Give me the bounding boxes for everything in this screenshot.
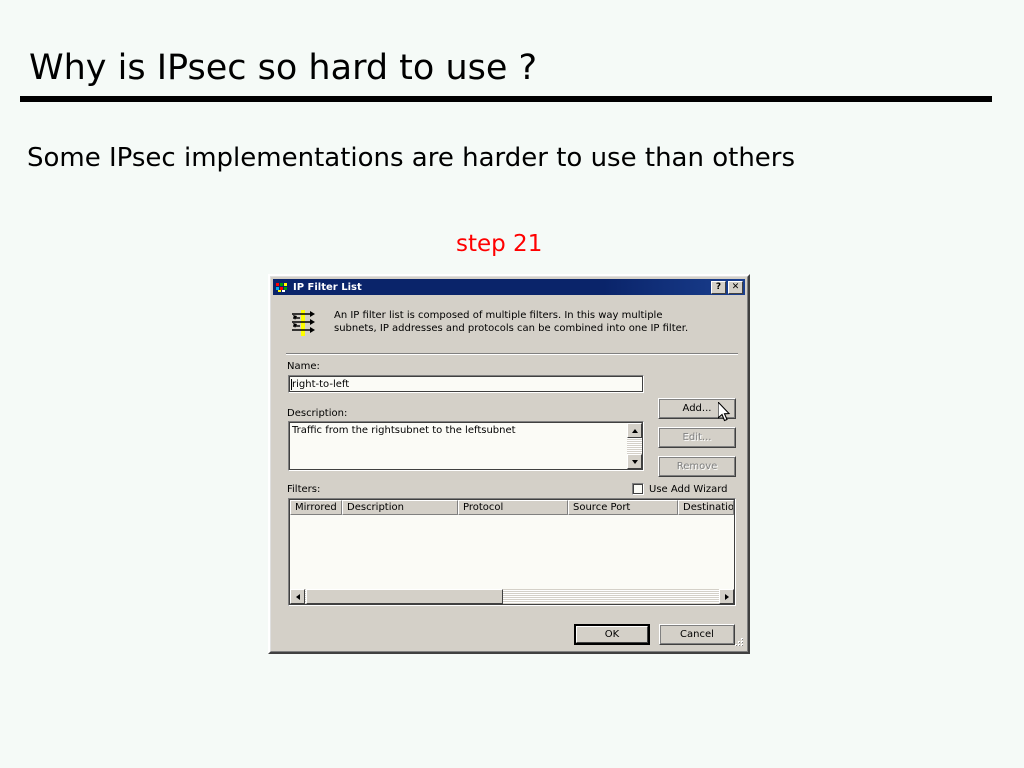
column-header-protocol[interactable]: Protocol [458,500,568,515]
slide-subtitle: Some IPsec implementations are harder to… [27,143,795,173]
edit-button[interactable]: Edit... [658,427,736,448]
ok-button-label: OK [576,626,648,643]
checkbox-box[interactable] [632,483,644,495]
description-textarea[interactable]: Traffic from the rightsubnet to the left… [288,421,644,471]
column-header-destination[interactable]: Destination [678,500,734,515]
filters-list[interactable]: Mirrored Description Protocol Source Por… [288,498,736,606]
column-header-source-port[interactable]: Source Port [568,500,678,515]
ip-filter-list-icon [275,281,289,294]
help-button[interactable]: ? [711,281,726,294]
scroll-right-icon[interactable] [719,589,734,604]
resize-grip-icon[interactable] [731,635,745,649]
filters-list-header: Mirrored Description Protocol Source Por… [290,500,734,515]
dialog-inner-frame: IP Filter List ? ✕ [270,276,748,652]
filter-list-icon [290,309,316,337]
ok-button[interactable]: OK [574,624,650,645]
page-title: Why is IPsec so hard to use ? [29,48,537,88]
filters-label: Filters: [287,484,320,495]
name-input-value: right-to-left [292,379,349,390]
name-label: Name: [287,361,320,372]
step-label: step 21 [456,231,542,257]
titlebar-buttons: ? ✕ [711,281,743,294]
description-vertical-scrollbar[interactable] [627,423,642,469]
remove-button[interactable]: Remove [658,456,736,477]
scroll-down-icon[interactable] [627,454,642,469]
add-button[interactable]: Add... [658,398,736,419]
column-header-mirrored[interactable]: Mirrored [290,500,342,515]
column-header-description[interactable]: Description [342,500,458,515]
title-divider [20,96,992,102]
horizontal-scroll-thumb[interactable] [306,589,503,604]
header-separator [286,353,738,355]
description-value: Traffic from the rightsubnet to the left… [292,425,625,437]
dialog-title: IP Filter List [293,281,711,294]
use-add-wizard-label: Use Add Wizard [649,484,728,495]
filters-list-body[interactable] [290,515,734,588]
description-label: Description: [287,408,347,419]
filters-horizontal-scrollbar[interactable] [290,589,734,604]
cancel-button[interactable]: Cancel [659,624,735,645]
dialog-titlebar[interactable]: IP Filter List ? ✕ [273,279,745,295]
dialog-description-text: An IP filter list is composed of multipl… [334,309,706,335]
close-icon[interactable]: ✕ [728,281,743,294]
scroll-up-icon[interactable] [627,423,642,438]
name-input[interactable]: right-to-left [288,375,644,393]
ip-filter-list-dialog: IP Filter List ? ✕ [268,274,750,654]
use-add-wizard-checkbox[interactable]: Use Add Wizard [632,483,728,495]
scroll-left-icon[interactable] [290,589,305,604]
